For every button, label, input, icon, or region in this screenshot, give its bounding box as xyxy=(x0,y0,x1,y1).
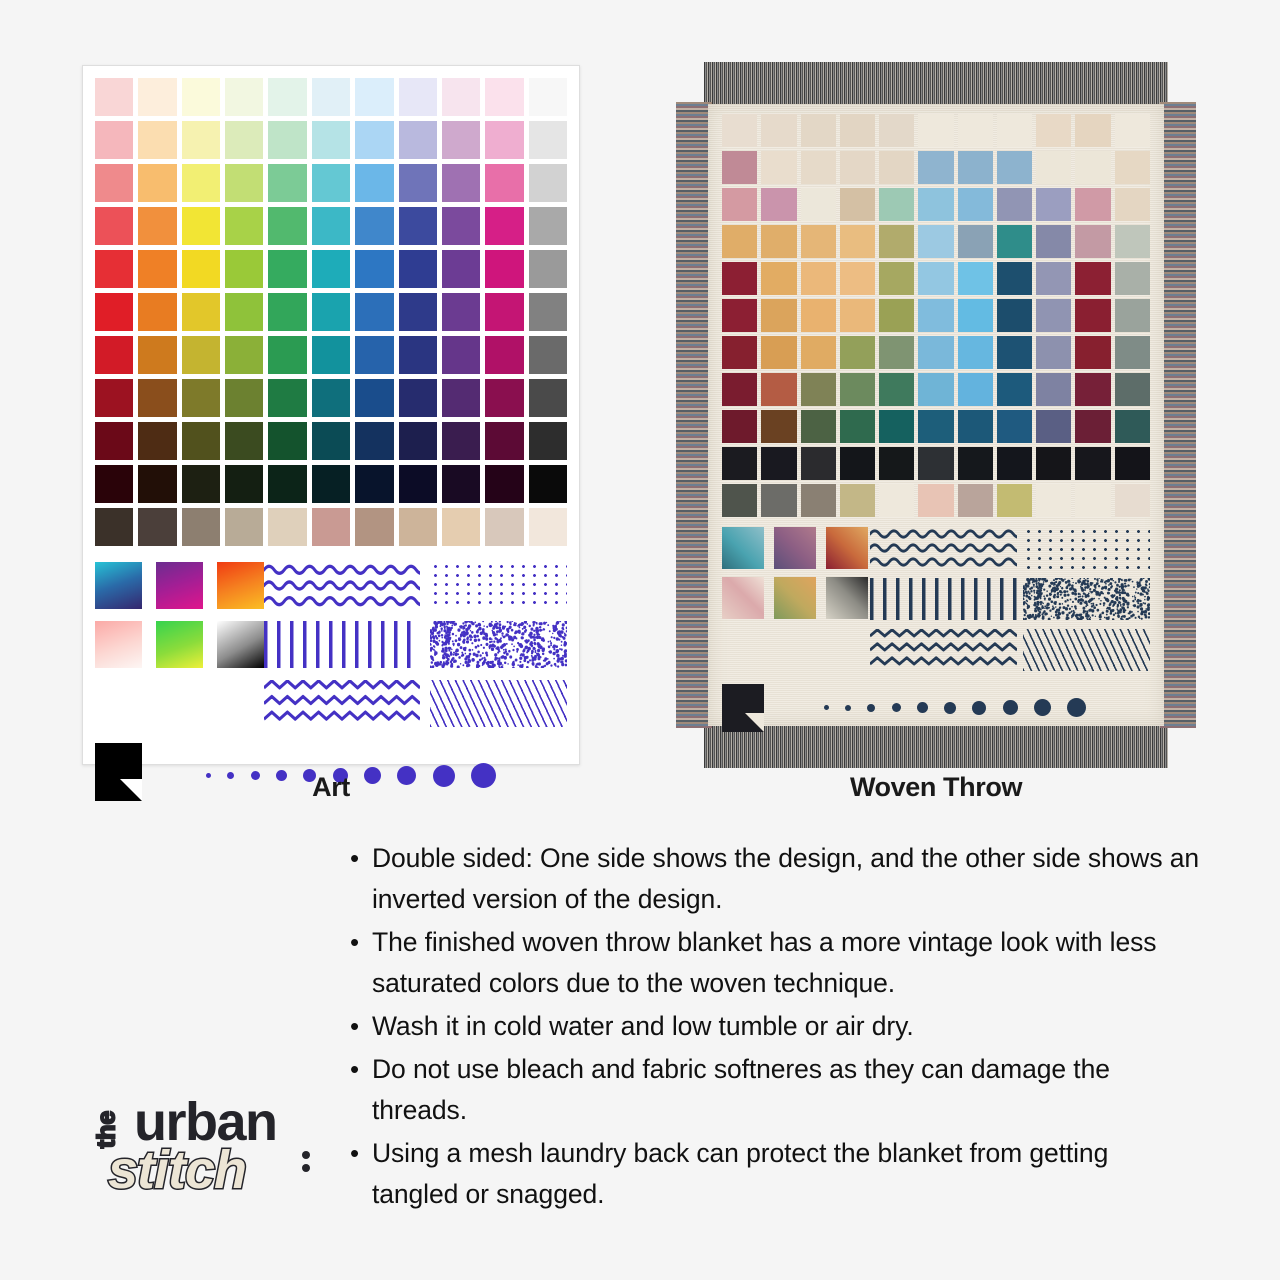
throw-diagonal-hatch-pattern xyxy=(1023,629,1150,671)
swatch-r10-c0 xyxy=(95,508,133,546)
swatch-r9-c10 xyxy=(529,465,567,503)
swatch-r8-c7 xyxy=(399,422,437,460)
swatch-r3-c8 xyxy=(442,207,480,245)
bullet-item-3: •Do not use bleach and fabric softneres … xyxy=(350,1049,1200,1131)
throw-pattern-column xyxy=(870,527,1017,680)
scale-dot-3 xyxy=(892,703,901,712)
swatch-r1-c2 xyxy=(182,121,220,159)
swatch-r5-c0 xyxy=(722,299,757,332)
fringe-top xyxy=(704,62,1168,108)
swatch-r10-c9 xyxy=(1075,484,1110,517)
fringe-left xyxy=(676,102,712,728)
swatch-r2-c3 xyxy=(225,164,263,202)
throw-gradient-column xyxy=(722,527,870,680)
gradient-row-0 xyxy=(722,527,870,569)
swatch-r9-c7 xyxy=(997,447,1032,480)
swatch-r6-c6 xyxy=(958,336,993,369)
swatch-r5-c4 xyxy=(879,299,914,332)
swatch-r4-c0 xyxy=(722,262,757,295)
swatch-r4-c4 xyxy=(268,250,306,288)
swatch-r2-c5 xyxy=(918,188,953,221)
swatch-r10-c2 xyxy=(182,508,220,546)
swatch-r9-c9 xyxy=(485,465,523,503)
art-color-swatch-grid xyxy=(95,78,567,546)
swatch-r9-c2 xyxy=(182,465,220,503)
swatch-r4-c4 xyxy=(879,262,914,295)
throw-color-swatch-grid xyxy=(722,114,1150,517)
swatch-r4-c3 xyxy=(225,250,263,288)
swatch-r8-c8 xyxy=(1036,410,1071,443)
swatch-r4-c0 xyxy=(95,250,133,288)
swatch-r0-c0 xyxy=(95,78,133,116)
swatch-r2-c5 xyxy=(312,164,350,202)
swatch-r1-c0 xyxy=(722,151,757,184)
throw-pattern-column-2 xyxy=(1023,527,1150,680)
swatch-r3-c8 xyxy=(1036,225,1071,258)
swatch-r4-c8 xyxy=(1036,262,1071,295)
gradient-purple-diagonal xyxy=(774,527,816,569)
gradient-teal-diagonal xyxy=(722,527,764,569)
swatch-r5-c1 xyxy=(138,293,176,331)
swatch-r5-c8 xyxy=(442,293,480,331)
swatch-r6-c10 xyxy=(529,336,567,374)
swatch-r4-c3 xyxy=(840,262,875,295)
swatch-r2-c0 xyxy=(95,164,133,202)
swatch-r9-c4 xyxy=(879,447,914,480)
swatch-r6-c3 xyxy=(225,336,263,374)
swatch-r4-c5 xyxy=(312,250,350,288)
swatch-r9-c6 xyxy=(355,465,393,503)
swatch-r8-c5 xyxy=(918,410,953,443)
throw-dot-scale xyxy=(824,698,1086,717)
swatch-r0-c4 xyxy=(268,78,306,116)
swatch-r5-c10 xyxy=(1115,299,1150,332)
throw-speckle-noise-pattern xyxy=(1023,578,1150,620)
swatch-r0-c10 xyxy=(1115,114,1150,147)
woven-throw-preview xyxy=(676,62,1196,768)
swatch-r9-c9 xyxy=(1075,447,1110,480)
swatch-r0-c8 xyxy=(1036,114,1071,147)
swatch-r2-c2 xyxy=(801,188,836,221)
swatch-r2-c1 xyxy=(138,164,176,202)
swatch-r9-c5 xyxy=(918,447,953,480)
swatch-r3-c6 xyxy=(355,207,393,245)
throw-zigzag-lines-pattern xyxy=(870,629,1017,671)
swatch-r8-c4 xyxy=(268,422,306,460)
swatch-r2-c6 xyxy=(355,164,393,202)
swatch-r5-c7 xyxy=(399,293,437,331)
throw-caption: Woven Throw xyxy=(676,772,1196,803)
swatch-r9-c4 xyxy=(268,465,306,503)
gradient-red-orange-diag xyxy=(826,527,868,569)
swatch-r6-c4 xyxy=(879,336,914,369)
swatch-r7-c4 xyxy=(268,379,306,417)
swatch-r9-c8 xyxy=(1036,447,1071,480)
swatch-r0-c3 xyxy=(840,114,875,147)
swatch-r7-c10 xyxy=(1115,373,1150,406)
swatch-r7-c9 xyxy=(485,379,523,417)
swatch-r7-c9 xyxy=(1075,373,1110,406)
swatch-r7-c1 xyxy=(138,379,176,417)
bullet-marker-icon: • xyxy=(350,1049,372,1131)
swatch-r1-c6 xyxy=(958,151,993,184)
swatch-r5-c9 xyxy=(1075,299,1110,332)
swatch-r3-c3 xyxy=(225,207,263,245)
swatch-r7-c5 xyxy=(918,373,953,406)
bullet-item-0: •Double sided: One side shows the design… xyxy=(350,838,1200,920)
swatch-r3-c4 xyxy=(268,207,306,245)
swatch-r10-c8 xyxy=(442,508,480,546)
scale-dot-6 xyxy=(972,701,986,715)
swatch-r10-c3 xyxy=(225,508,263,546)
bullet-marker-icon: • xyxy=(350,1006,372,1047)
swatch-r6-c9 xyxy=(485,336,523,374)
swatch-r8-c4 xyxy=(879,410,914,443)
swatch-r6-c5 xyxy=(918,336,953,369)
swatch-r6-c10 xyxy=(1115,336,1150,369)
swatch-r4-c2 xyxy=(182,250,220,288)
swatch-r2-c7 xyxy=(399,164,437,202)
swatch-r3-c3 xyxy=(840,225,875,258)
swatch-r1-c10 xyxy=(529,121,567,159)
swatch-r0-c2 xyxy=(182,78,220,116)
swatch-r3-c7 xyxy=(399,207,437,245)
gradient-red-to-yellow xyxy=(217,562,264,609)
swatch-r4-c1 xyxy=(138,250,176,288)
scale-dot-2 xyxy=(867,704,875,712)
swatch-r10-c10 xyxy=(529,508,567,546)
throw-dot-grid-pattern xyxy=(1023,527,1150,569)
swatch-r4-c7 xyxy=(399,250,437,288)
swatch-r10-c9 xyxy=(485,508,523,546)
swatch-r10-c6 xyxy=(958,484,993,517)
swatch-r1-c1 xyxy=(761,151,796,184)
swatch-r0-c6 xyxy=(958,114,993,147)
swatch-r3-c5 xyxy=(312,207,350,245)
swatch-r8-c1 xyxy=(761,410,796,443)
swatch-r4-c8 xyxy=(442,250,480,288)
swatch-r0-c3 xyxy=(225,78,263,116)
swatch-r0-c8 xyxy=(442,78,480,116)
swatch-r8-c10 xyxy=(529,422,567,460)
swatch-r2-c1 xyxy=(761,188,796,221)
swatch-r8-c6 xyxy=(355,422,393,460)
swatch-r2-c4 xyxy=(268,164,306,202)
swatch-r6-c1 xyxy=(138,336,176,374)
swatch-r6-c8 xyxy=(442,336,480,374)
swatch-r6-c4 xyxy=(268,336,306,374)
swatch-r10-c1 xyxy=(761,484,796,517)
brand-dots-icon xyxy=(302,1151,310,1177)
swatch-r9-c3 xyxy=(840,447,875,480)
dot-grid-pattern xyxy=(430,562,567,609)
swatch-r1-c10 xyxy=(1115,151,1150,184)
swatch-r10-c5 xyxy=(312,508,350,546)
swatch-r1-c4 xyxy=(879,151,914,184)
swatch-r8-c10 xyxy=(1115,410,1150,443)
swatch-r9-c6 xyxy=(958,447,993,480)
throw-body xyxy=(708,104,1164,726)
swatch-r1-c8 xyxy=(1036,151,1071,184)
swatch-r0-c7 xyxy=(997,114,1032,147)
swatch-r6-c9 xyxy=(1075,336,1110,369)
swatch-r0-c0 xyxy=(722,114,757,147)
swatch-r7-c3 xyxy=(225,379,263,417)
swatch-r3-c2 xyxy=(801,225,836,258)
scale-dot-8 xyxy=(1034,699,1051,716)
bullet-marker-icon: • xyxy=(350,922,372,1004)
swatch-r6-c5 xyxy=(312,336,350,374)
swatch-r7-c6 xyxy=(355,379,393,417)
gradient-cyan-to-navy xyxy=(95,562,142,609)
swatch-r9-c10 xyxy=(1115,447,1150,480)
swatch-r4-c10 xyxy=(1115,262,1150,295)
swatch-r10-c7 xyxy=(997,484,1032,517)
bullet-marker-icon: • xyxy=(350,838,372,920)
swatch-r3-c4 xyxy=(879,225,914,258)
swatch-r2-c6 xyxy=(958,188,993,221)
swatch-r10-c5 xyxy=(918,484,953,517)
swatch-r7-c0 xyxy=(95,379,133,417)
swatch-r0-c10 xyxy=(529,78,567,116)
scale-dot-7 xyxy=(1003,700,1018,715)
bullet-item-1: •The finished woven throw blanket has a … xyxy=(350,922,1200,1004)
swatch-r2-c4 xyxy=(879,188,914,221)
gradient-row-0 xyxy=(95,562,264,609)
swatch-r7-c10 xyxy=(529,379,567,417)
swatch-r7-c6 xyxy=(958,373,993,406)
swatch-r4-c9 xyxy=(1075,262,1110,295)
swatch-r10-c1 xyxy=(138,508,176,546)
swatch-r1-c8 xyxy=(442,121,480,159)
swatch-r8-c3 xyxy=(840,410,875,443)
scale-dot-5 xyxy=(944,702,956,714)
swatch-r5-c10 xyxy=(529,293,567,331)
art-lower-section xyxy=(95,562,567,739)
swatch-r10-c0 xyxy=(722,484,757,517)
gradient-pink-to-white xyxy=(95,621,142,668)
swatch-r1-c6 xyxy=(355,121,393,159)
product-care-bullet-list: •Double sided: One side shows the design… xyxy=(350,838,1200,1217)
art-caption: Art xyxy=(82,772,580,803)
swatch-r3-c1 xyxy=(138,207,176,245)
swatch-r1-c7 xyxy=(399,121,437,159)
swatch-r0-c1 xyxy=(138,78,176,116)
swatch-r9-c0 xyxy=(722,447,757,480)
brand-logo: the urban stitch xyxy=(86,1093,316,1203)
swatch-r10-c6 xyxy=(355,508,393,546)
swatch-r3-c10 xyxy=(529,207,567,245)
wavy-lines-pattern xyxy=(264,562,420,609)
swatch-r7-c7 xyxy=(399,379,437,417)
swatch-r4-c6 xyxy=(355,250,393,288)
swatch-r3-c5 xyxy=(918,225,953,258)
swatch-r9-c0 xyxy=(95,465,133,503)
swatch-r8-c9 xyxy=(485,422,523,460)
swatch-r7-c8 xyxy=(442,379,480,417)
swatch-r4-c5 xyxy=(918,262,953,295)
swatch-r1-c7 xyxy=(997,151,1032,184)
swatch-r3-c0 xyxy=(722,225,757,258)
swatch-r5-c2 xyxy=(182,293,220,331)
gradient-green-orange-diag xyxy=(774,577,816,619)
swatch-r1-c9 xyxy=(1075,151,1110,184)
swatch-r8-c0 xyxy=(95,422,133,460)
swatch-r6-c3 xyxy=(840,336,875,369)
swatch-r8-c6 xyxy=(958,410,993,443)
swatch-r10-c7 xyxy=(399,508,437,546)
swatch-r0-c1 xyxy=(761,114,796,147)
swatch-r6-c7 xyxy=(997,336,1032,369)
swatch-r4-c1 xyxy=(761,262,796,295)
swatch-r0-c7 xyxy=(399,78,437,116)
swatch-r5-c3 xyxy=(225,293,263,331)
product-comparison-page: Art xyxy=(0,0,1280,1280)
swatch-r1-c5 xyxy=(312,121,350,159)
swatch-r5-c6 xyxy=(958,299,993,332)
swatch-r6-c2 xyxy=(801,336,836,369)
swatch-r7-c2 xyxy=(182,379,220,417)
swatch-r8-c5 xyxy=(312,422,350,460)
scale-dot-9 xyxy=(1067,698,1086,717)
swatch-r3-c1 xyxy=(761,225,796,258)
swatch-r8-c0 xyxy=(722,410,757,443)
swatch-r4-c6 xyxy=(958,262,993,295)
swatch-r6-c7 xyxy=(399,336,437,374)
bullet-item-2: •Wash it in cold water and low tumble or… xyxy=(350,1006,1200,1047)
throw-lower-section xyxy=(722,527,1150,680)
swatch-r10-c4 xyxy=(268,508,306,546)
swatch-r8-c2 xyxy=(801,410,836,443)
swatch-r8-c8 xyxy=(442,422,480,460)
swatch-r2-c8 xyxy=(1036,188,1071,221)
swatch-r2-c10 xyxy=(529,164,567,202)
swatch-r3-c6 xyxy=(958,225,993,258)
swatch-r0-c9 xyxy=(1075,114,1110,147)
swatch-r5-c7 xyxy=(997,299,1032,332)
swatch-r8-c7 xyxy=(997,410,1032,443)
swatch-r8-c1 xyxy=(138,422,176,460)
bullet-text: Do not use bleach and fabric softneres a… xyxy=(372,1049,1200,1131)
swatch-r6-c0 xyxy=(722,336,757,369)
swatch-r7-c5 xyxy=(312,379,350,417)
swatch-r9-c3 xyxy=(225,465,263,503)
swatch-r1-c3 xyxy=(225,121,263,159)
fringe-right xyxy=(1160,102,1196,728)
swatch-r0-c6 xyxy=(355,78,393,116)
scale-dot-4 xyxy=(917,702,928,713)
art-preview-card xyxy=(82,65,580,765)
swatch-r2-c0 xyxy=(722,188,757,221)
swatch-r10-c4 xyxy=(879,484,914,517)
art-pattern-column-2 xyxy=(430,562,567,739)
swatch-r7-c1 xyxy=(761,373,796,406)
swatch-r6-c0 xyxy=(95,336,133,374)
throw-vertical-stripes-pattern xyxy=(870,578,1017,620)
swatch-r0-c5 xyxy=(918,114,953,147)
throw-logo-mark xyxy=(722,684,764,732)
swatch-r3-c7 xyxy=(997,225,1032,258)
swatch-r9-c7 xyxy=(399,465,437,503)
swatch-r9-c1 xyxy=(138,465,176,503)
swatch-r9-c1 xyxy=(761,447,796,480)
swatch-r3-c10 xyxy=(1115,225,1150,258)
swatch-r3-c2 xyxy=(182,207,220,245)
swatch-r2-c7 xyxy=(997,188,1032,221)
gradient-white-to-black xyxy=(217,621,264,668)
swatch-r1-c3 xyxy=(840,151,875,184)
bullet-text: The finished woven throw blanket has a m… xyxy=(372,922,1200,1004)
art-pattern-column xyxy=(264,562,420,739)
swatch-r4-c10 xyxy=(529,250,567,288)
swatch-r7-c8 xyxy=(1036,373,1071,406)
swatch-r10-c3 xyxy=(840,484,875,517)
swatch-r5-c0 xyxy=(95,293,133,331)
bullet-text: Using a mesh laundry back can protect th… xyxy=(372,1133,1200,1215)
swatch-r9-c8 xyxy=(442,465,480,503)
swatch-r10-c2 xyxy=(801,484,836,517)
vertical-stripes-pattern xyxy=(264,621,420,668)
swatch-r1-c4 xyxy=(268,121,306,159)
swatch-r5-c6 xyxy=(355,293,393,331)
swatch-r8-c9 xyxy=(1075,410,1110,443)
swatch-r2-c10 xyxy=(1115,188,1150,221)
brand-stitch-text: stitch xyxy=(108,1139,246,1201)
swatch-r5-c5 xyxy=(918,299,953,332)
swatch-r10-c8 xyxy=(1036,484,1071,517)
swatch-r0-c4 xyxy=(879,114,914,147)
swatch-r0-c2 xyxy=(801,114,836,147)
swatch-r7-c2 xyxy=(801,373,836,406)
gradient-row-1 xyxy=(95,621,264,668)
swatch-r5-c9 xyxy=(485,293,523,331)
swatch-r3-c9 xyxy=(1075,225,1110,258)
gradient-green-to-yellow xyxy=(156,621,203,668)
swatch-r7-c0 xyxy=(722,373,757,406)
scale-dot-1 xyxy=(845,705,851,711)
swatch-r1-c9 xyxy=(485,121,523,159)
swatch-r9-c2 xyxy=(801,447,836,480)
swatch-r5-c4 xyxy=(268,293,306,331)
scale-dot-0 xyxy=(824,705,829,710)
swatch-r0-c5 xyxy=(312,78,350,116)
gradient-gray-diagonal xyxy=(826,577,868,619)
swatch-r2-c3 xyxy=(840,188,875,221)
diagonal-hatch-pattern xyxy=(430,680,567,727)
swatch-r6-c6 xyxy=(355,336,393,374)
swatch-r8-c3 xyxy=(225,422,263,460)
bullet-item-4: •Using a mesh laundry back can protect t… xyxy=(350,1133,1200,1215)
speckle-noise-pattern xyxy=(430,621,567,668)
swatch-r2-c9 xyxy=(1075,188,1110,221)
throw-wavy-lines-pattern xyxy=(870,527,1017,569)
swatch-r6-c1 xyxy=(761,336,796,369)
swatch-r7-c3 xyxy=(840,373,875,406)
gradient-pink-diagonal xyxy=(722,577,764,619)
swatch-r7-c7 xyxy=(997,373,1032,406)
swatch-r1-c5 xyxy=(918,151,953,184)
swatch-r5-c5 xyxy=(312,293,350,331)
swatch-r9-c5 xyxy=(312,465,350,503)
swatch-r5-c2 xyxy=(801,299,836,332)
swatch-r2-c8 xyxy=(442,164,480,202)
swatch-r6-c8 xyxy=(1036,336,1071,369)
swatch-r7-c4 xyxy=(879,373,914,406)
gradient-row-1 xyxy=(722,577,870,619)
swatch-r4-c9 xyxy=(485,250,523,288)
swatch-r5-c3 xyxy=(840,299,875,332)
swatch-r1-c0 xyxy=(95,121,133,159)
